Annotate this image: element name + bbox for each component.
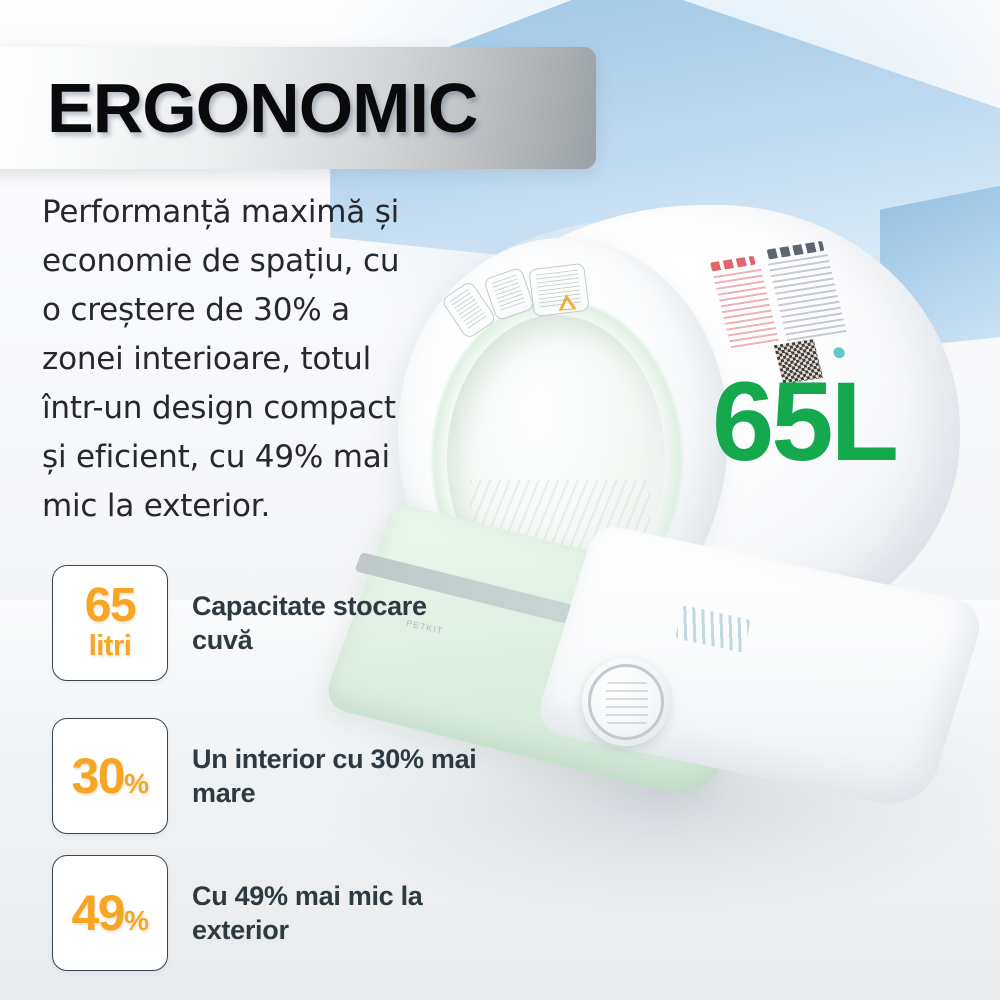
control-knob-display — [606, 682, 648, 724]
feature-badge-value: 65 — [85, 583, 135, 629]
spec-label-teal-dot — [832, 347, 846, 359]
feature-label: Cu 49% mai mic la exterior — [192, 879, 492, 947]
feature-item-capacity: 65 litri Capacitate stocare cuvă — [52, 565, 492, 681]
feature-badge: 65 litri — [52, 565, 168, 681]
feature-badge: 30% — [52, 718, 168, 834]
feature-badge-suffix: % — [124, 908, 148, 935]
feature-item-interior: 30% Un interior cu 30% mai mare — [52, 718, 492, 834]
feature-badge: 49% — [52, 855, 168, 971]
spec-label-text-red — [713, 269, 779, 352]
feature-label: Capacitate stocare cuvă — [192, 589, 492, 657]
intro-paragraph: Performanță maximă și economie de spațiu… — [42, 188, 414, 531]
page-title: ERGONOMIC — [47, 68, 477, 148]
spec-label-heading-red — [710, 256, 756, 272]
feature-label: Un interior cu 30% mai mare — [192, 742, 492, 810]
feature-badge-value: 49% — [71, 889, 148, 937]
sticker-text-lines — [491, 275, 526, 314]
feature-badge-number: 49 — [71, 889, 124, 937]
feature-badge-number: 30 — [71, 752, 124, 800]
volume-overlay-label: 65L — [712, 366, 896, 478]
feature-badge-value: 30% — [71, 752, 148, 800]
feature-badge-unit: litri — [89, 630, 132, 663]
feature-badge-suffix: % — [124, 771, 148, 798]
warning-triangle-icon — [557, 293, 576, 311]
product-feature-graphic: PETKIT 65L ERGONOMIC Performanță maximă … — [0, 0, 1000, 1000]
feature-item-exterior: 49% Cu 49% mai mic la exterior — [52, 855, 492, 971]
